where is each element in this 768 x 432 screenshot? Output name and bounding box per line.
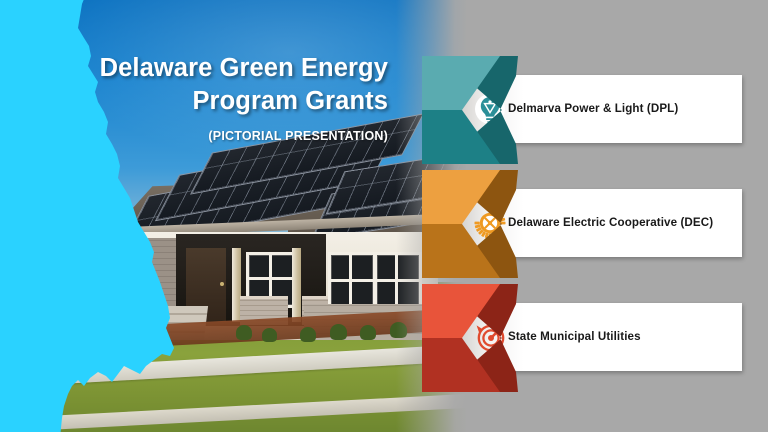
item-label: Delmarva Power & Light (DPL) — [508, 101, 678, 117]
shrub — [300, 327, 316, 342]
title-line-2: Program Grants — [0, 85, 400, 118]
chevron-teal — [404, 54, 522, 166]
slide-title-block: Delaware Green Energy Program Grants (PI… — [0, 52, 400, 143]
item-label: State Municipal Utilities — [508, 329, 641, 345]
title-line-1: Delaware Green Energy — [0, 52, 400, 85]
shrub — [236, 325, 252, 340]
chevron-red — [404, 282, 522, 394]
shrub — [262, 328, 277, 342]
slide-subtitle: (PICTORIAL PRESENTATION) — [0, 129, 400, 143]
item-label-wrap: Delmarva Power & Light (DPL) — [508, 75, 730, 143]
item-label-wrap: Delaware Electric Cooperative (DEC) — [508, 189, 730, 257]
item-label-wrap: State Municipal Utilities — [508, 303, 730, 371]
list-item[interactable]: Delaware Electric Cooperative (DEC) — [404, 168, 768, 280]
list-item[interactable]: Delmarva Power & Light (DPL) — [404, 54, 768, 166]
porch-column — [292, 248, 301, 322]
chevron-orange — [404, 168, 522, 280]
shrub — [360, 325, 376, 340]
shrub — [330, 324, 347, 340]
list-item[interactable]: State Municipal Utilities — [404, 282, 768, 394]
item-label: Delaware Electric Cooperative (DEC) — [508, 215, 713, 231]
presentation-slide: Delaware Green Energy Program Grants (PI… — [0, 0, 768, 432]
